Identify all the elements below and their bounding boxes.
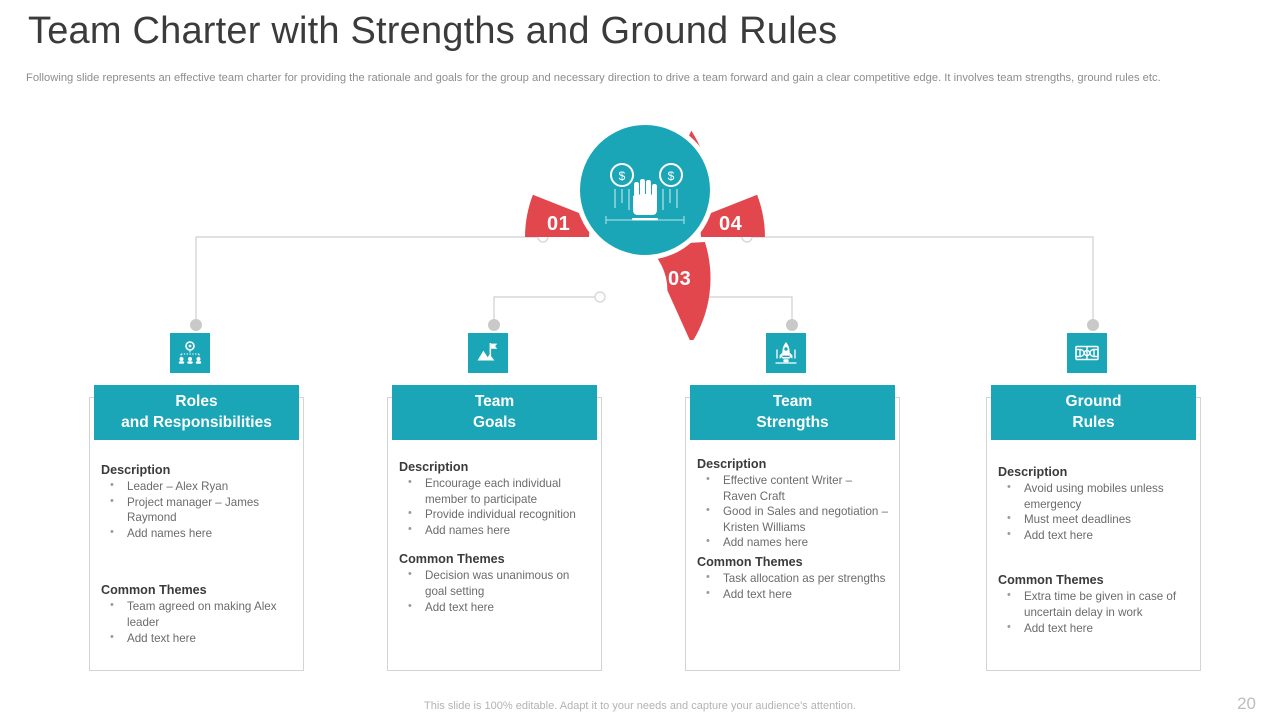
- slide-canvas: Team Charter with Strengths and Ground R…: [0, 0, 1280, 720]
- spacer: [399, 538, 590, 552]
- column-content: Description Leader – Alex Ryan Project m…: [89, 463, 304, 646]
- list-item: Extra time be given in case of uncertain…: [1000, 589, 1189, 620]
- list-item: Add text here: [699, 587, 888, 603]
- column-content: Description Avoid using mobiles unless e…: [986, 465, 1201, 636]
- list-item: Add names here: [401, 523, 590, 539]
- org-chart-gear-icon: [170, 333, 210, 373]
- central-hub-diagram: $ $: [0, 0, 1280, 340]
- column-endpoint-dots: [190, 319, 1099, 331]
- description-label: Description: [697, 457, 888, 471]
- list-item: Must meet deadlines: [1000, 512, 1189, 528]
- themes-label: Common Themes: [399, 552, 590, 566]
- column-title-line1: Team: [396, 391, 593, 412]
- column-header[interactable]: Team Goals: [392, 385, 597, 440]
- column-title-line2: and Responsibilities: [98, 412, 295, 433]
- column-header[interactable]: Team Strengths: [690, 385, 895, 440]
- column-content: Description Effective content Writer – R…: [685, 457, 900, 602]
- themes-list: Decision was unanimous on goal setting A…: [401, 568, 590, 615]
- column-title-line2: Goals: [396, 412, 593, 433]
- description-list: Encourage each individual member to part…: [401, 476, 590, 538]
- description-label: Description: [101, 463, 292, 477]
- column-header[interactable]: Ground Rules: [991, 385, 1196, 440]
- rocket-launch-icon: [766, 333, 806, 373]
- column-title-line2: Strengths: [694, 412, 891, 433]
- list-item: Good in Sales and negotiation – Kristen …: [699, 504, 888, 535]
- column-title-line1: Team: [694, 391, 891, 412]
- themes-label: Common Themes: [101, 583, 292, 597]
- hub-number-02: 02: [597, 268, 620, 291]
- svg-text:$: $: [619, 169, 626, 183]
- themes-label: Common Themes: [697, 555, 888, 569]
- list-item: Team agreed on making Alex leader: [103, 599, 292, 630]
- spacer: [101, 541, 292, 583]
- list-item: Project manager – James Raymond: [103, 495, 292, 526]
- description-label: Description: [998, 465, 1189, 479]
- themes-list: Task allocation as per strengths Add tex…: [699, 571, 888, 602]
- svg-text:$: $: [668, 169, 675, 183]
- themes-list: Extra time be given in case of uncertain…: [1000, 589, 1189, 636]
- hub-svg: $ $: [0, 0, 1280, 340]
- column-content: Description Encourage each individual me…: [387, 460, 602, 615]
- description-list: Effective content Writer – Raven Craft G…: [699, 473, 888, 551]
- hub-number-01: 01: [547, 213, 570, 236]
- list-item: Provide individual recognition: [401, 507, 590, 523]
- list-item: Avoid using mobiles unless emergency: [1000, 481, 1189, 512]
- list-item: Add text here: [1000, 528, 1189, 544]
- footer-note: This slide is 100% editable. Adapt it to…: [0, 700, 1280, 712]
- list-item: Add text here: [103, 631, 292, 647]
- themes-label: Common Themes: [998, 573, 1189, 587]
- list-item: Effective content Writer – Raven Craft: [699, 473, 888, 504]
- list-item: Add text here: [1000, 621, 1189, 637]
- list-item: Task allocation as per strengths: [699, 571, 888, 587]
- page-number: 20: [1237, 694, 1256, 714]
- description-list: Avoid using mobiles unless emergency Mus…: [1000, 481, 1189, 543]
- list-item: Decision was unanimous on goal setting: [401, 568, 590, 599]
- column-title-line2: Rules: [995, 412, 1192, 433]
- themes-list: Team agreed on making Alex leader Add te…: [103, 599, 292, 646]
- mountain-flag-goal-icon: [468, 333, 508, 373]
- court-field-rules-icon: [1067, 333, 1107, 373]
- column-title-line1: Ground: [995, 391, 1192, 412]
- list-item: Add names here: [103, 526, 292, 542]
- column-header[interactable]: Roles and Responsibilities: [94, 385, 299, 440]
- hub-number-03: 03: [668, 268, 691, 291]
- spacer: [998, 543, 1189, 573]
- list-item: Leader – Alex Ryan: [103, 479, 292, 495]
- column-title-line1: Roles: [98, 391, 295, 412]
- description-list: Leader – Alex Ryan Project manager – Jam…: [103, 479, 292, 541]
- hub-number-04: 04: [719, 213, 742, 236]
- list-item: Add names here: [699, 535, 888, 551]
- description-label: Description: [399, 460, 590, 474]
- list-item: Add text here: [401, 600, 590, 616]
- list-item: Encourage each individual member to part…: [401, 476, 590, 507]
